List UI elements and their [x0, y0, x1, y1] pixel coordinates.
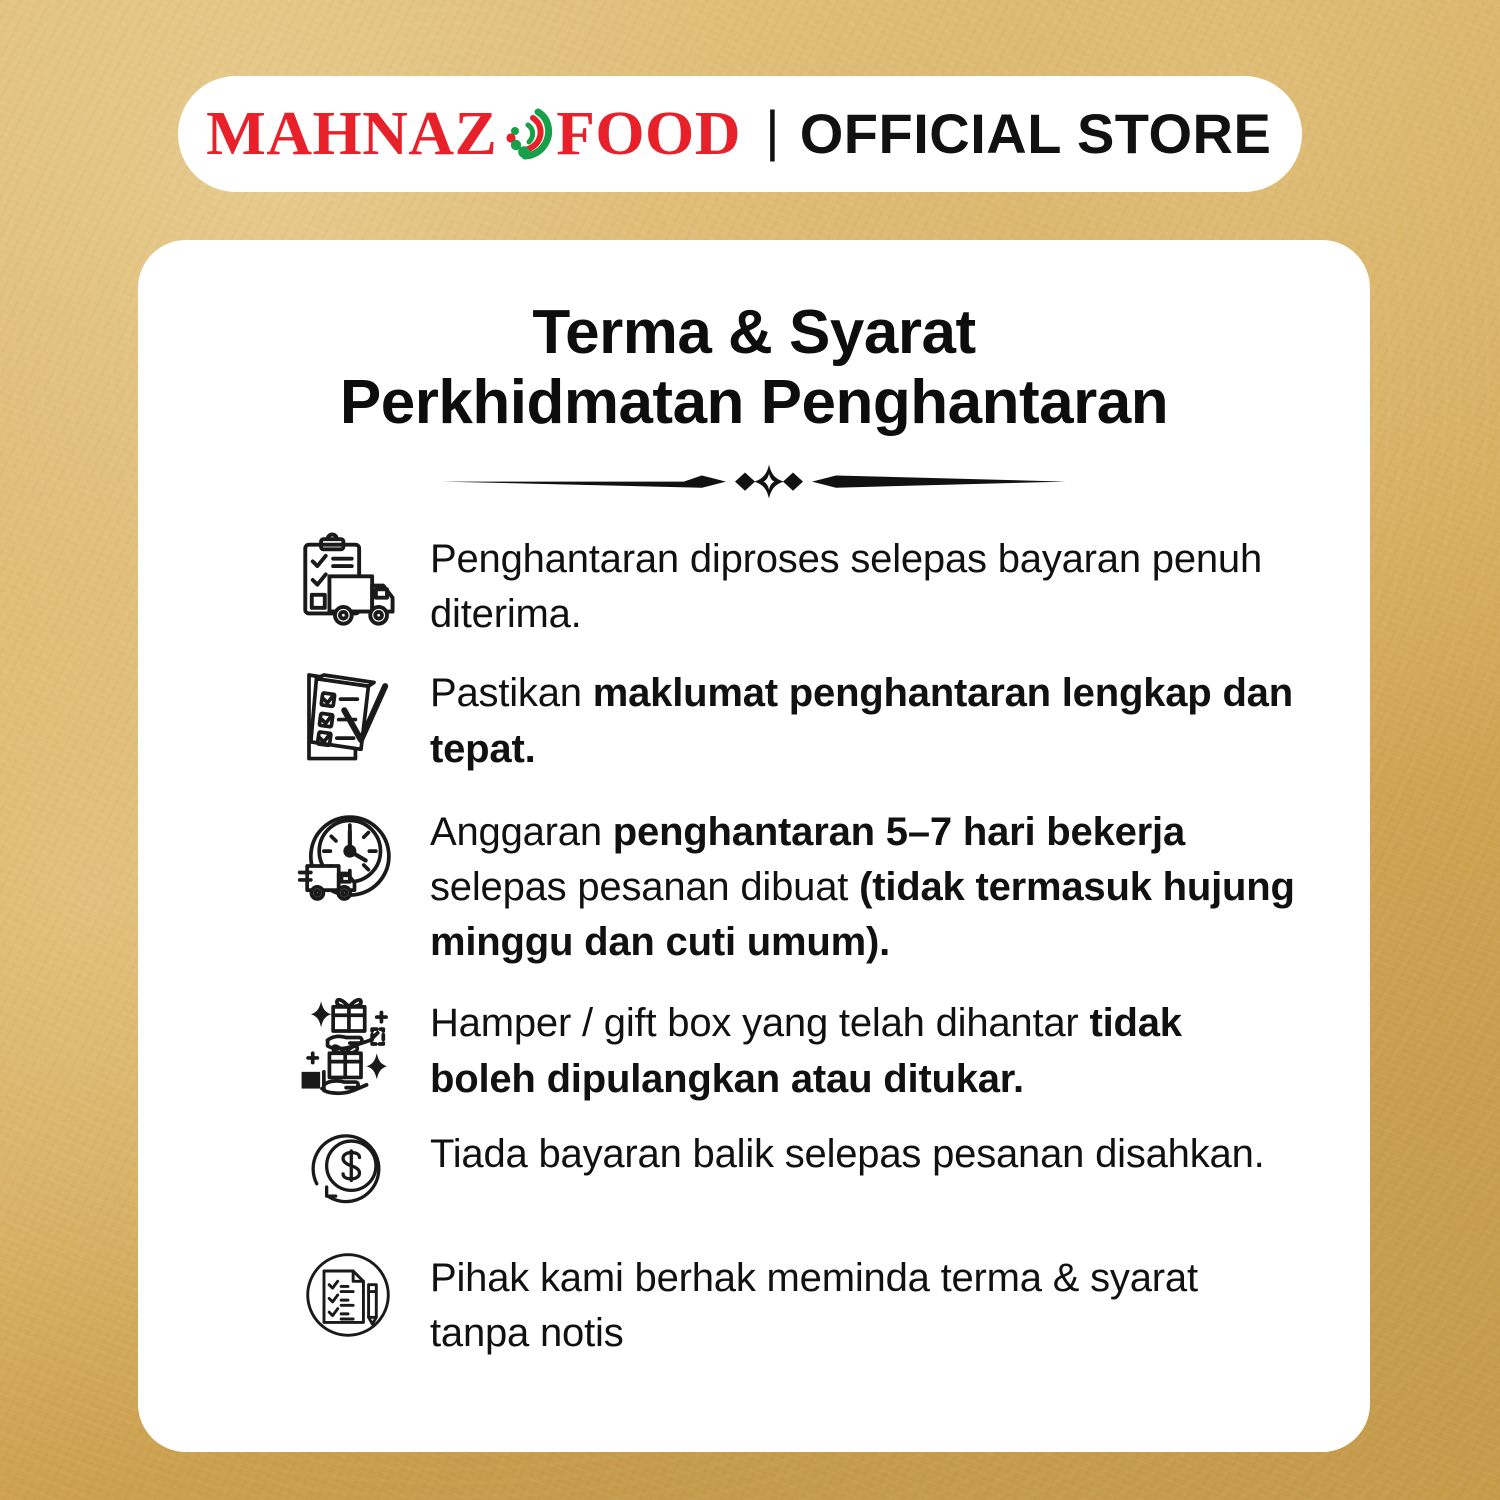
document-pencil-icon	[292, 1245, 404, 1357]
brand-lockup: MAHNAZ FOOD | OFFICIAL STORE	[209, 103, 1272, 165]
brand-name-mahnaz: MAHNAZ	[206, 103, 497, 165]
clock-truck-icon	[292, 799, 404, 911]
list-item-text: Anggaran penghantaran 5–7 hari bekerja s…	[430, 799, 1298, 971]
store-header-banner: MAHNAZ FOOD | OFFICIAL STORE	[178, 76, 1302, 192]
list-item: Hamper / gift box yang telah dihantar ti…	[292, 990, 1298, 1106]
title-line-1: Terma & Syarat	[210, 298, 1298, 368]
brand-name-food: FOOD	[556, 103, 741, 165]
list-item-text: Pastikan maklumat penghantaran lengkap d…	[430, 660, 1298, 776]
list-item: Pastikan maklumat penghantaran lengkap d…	[292, 660, 1298, 776]
list-item: Anggaran penghantaran 5–7 hari bekerja s…	[292, 799, 1298, 971]
money-back-refund-icon	[292, 1121, 404, 1233]
title-line-2: Perkhidmatan Penghantaran	[210, 368, 1298, 438]
list-item: Tiada bayaran balik selepas pesanan disa…	[292, 1121, 1298, 1233]
swoosh-dots-logo-icon	[494, 105, 556, 167]
page-title: Terma & Syarat Perkhidmatan Penghantaran	[210, 298, 1298, 438]
terms-card: Terma & Syarat Perkhidmatan Penghantaran	[138, 240, 1370, 1452]
ornamental-diamond-divider	[434, 464, 1074, 498]
official-store-label: OFFICIAL STORE	[800, 106, 1272, 162]
gift-box-hands-icon	[292, 990, 404, 1102]
list-item-text: Hamper / gift box yang telah dihantar ti…	[430, 990, 1298, 1106]
brand-separator: |	[765, 103, 780, 159]
list-item-text: Penghantaran diproses selepas bayaran pe…	[430, 526, 1298, 642]
list-item: Pihak kami berhak meminda terma & syarat…	[292, 1245, 1298, 1361]
list-item: Penghantaran diproses selepas bayaran pe…	[292, 526, 1298, 642]
checklist-checkmark-icon	[292, 660, 404, 772]
terms-list: Penghantaran diproses selepas bayaran pe…	[210, 526, 1298, 1361]
clipboard-truck-icon	[292, 526, 404, 638]
list-item-text: Pihak kami berhak meminda terma & syarat…	[430, 1245, 1298, 1361]
list-item-text: Tiada bayaran balik selepas pesanan disa…	[430, 1121, 1265, 1182]
